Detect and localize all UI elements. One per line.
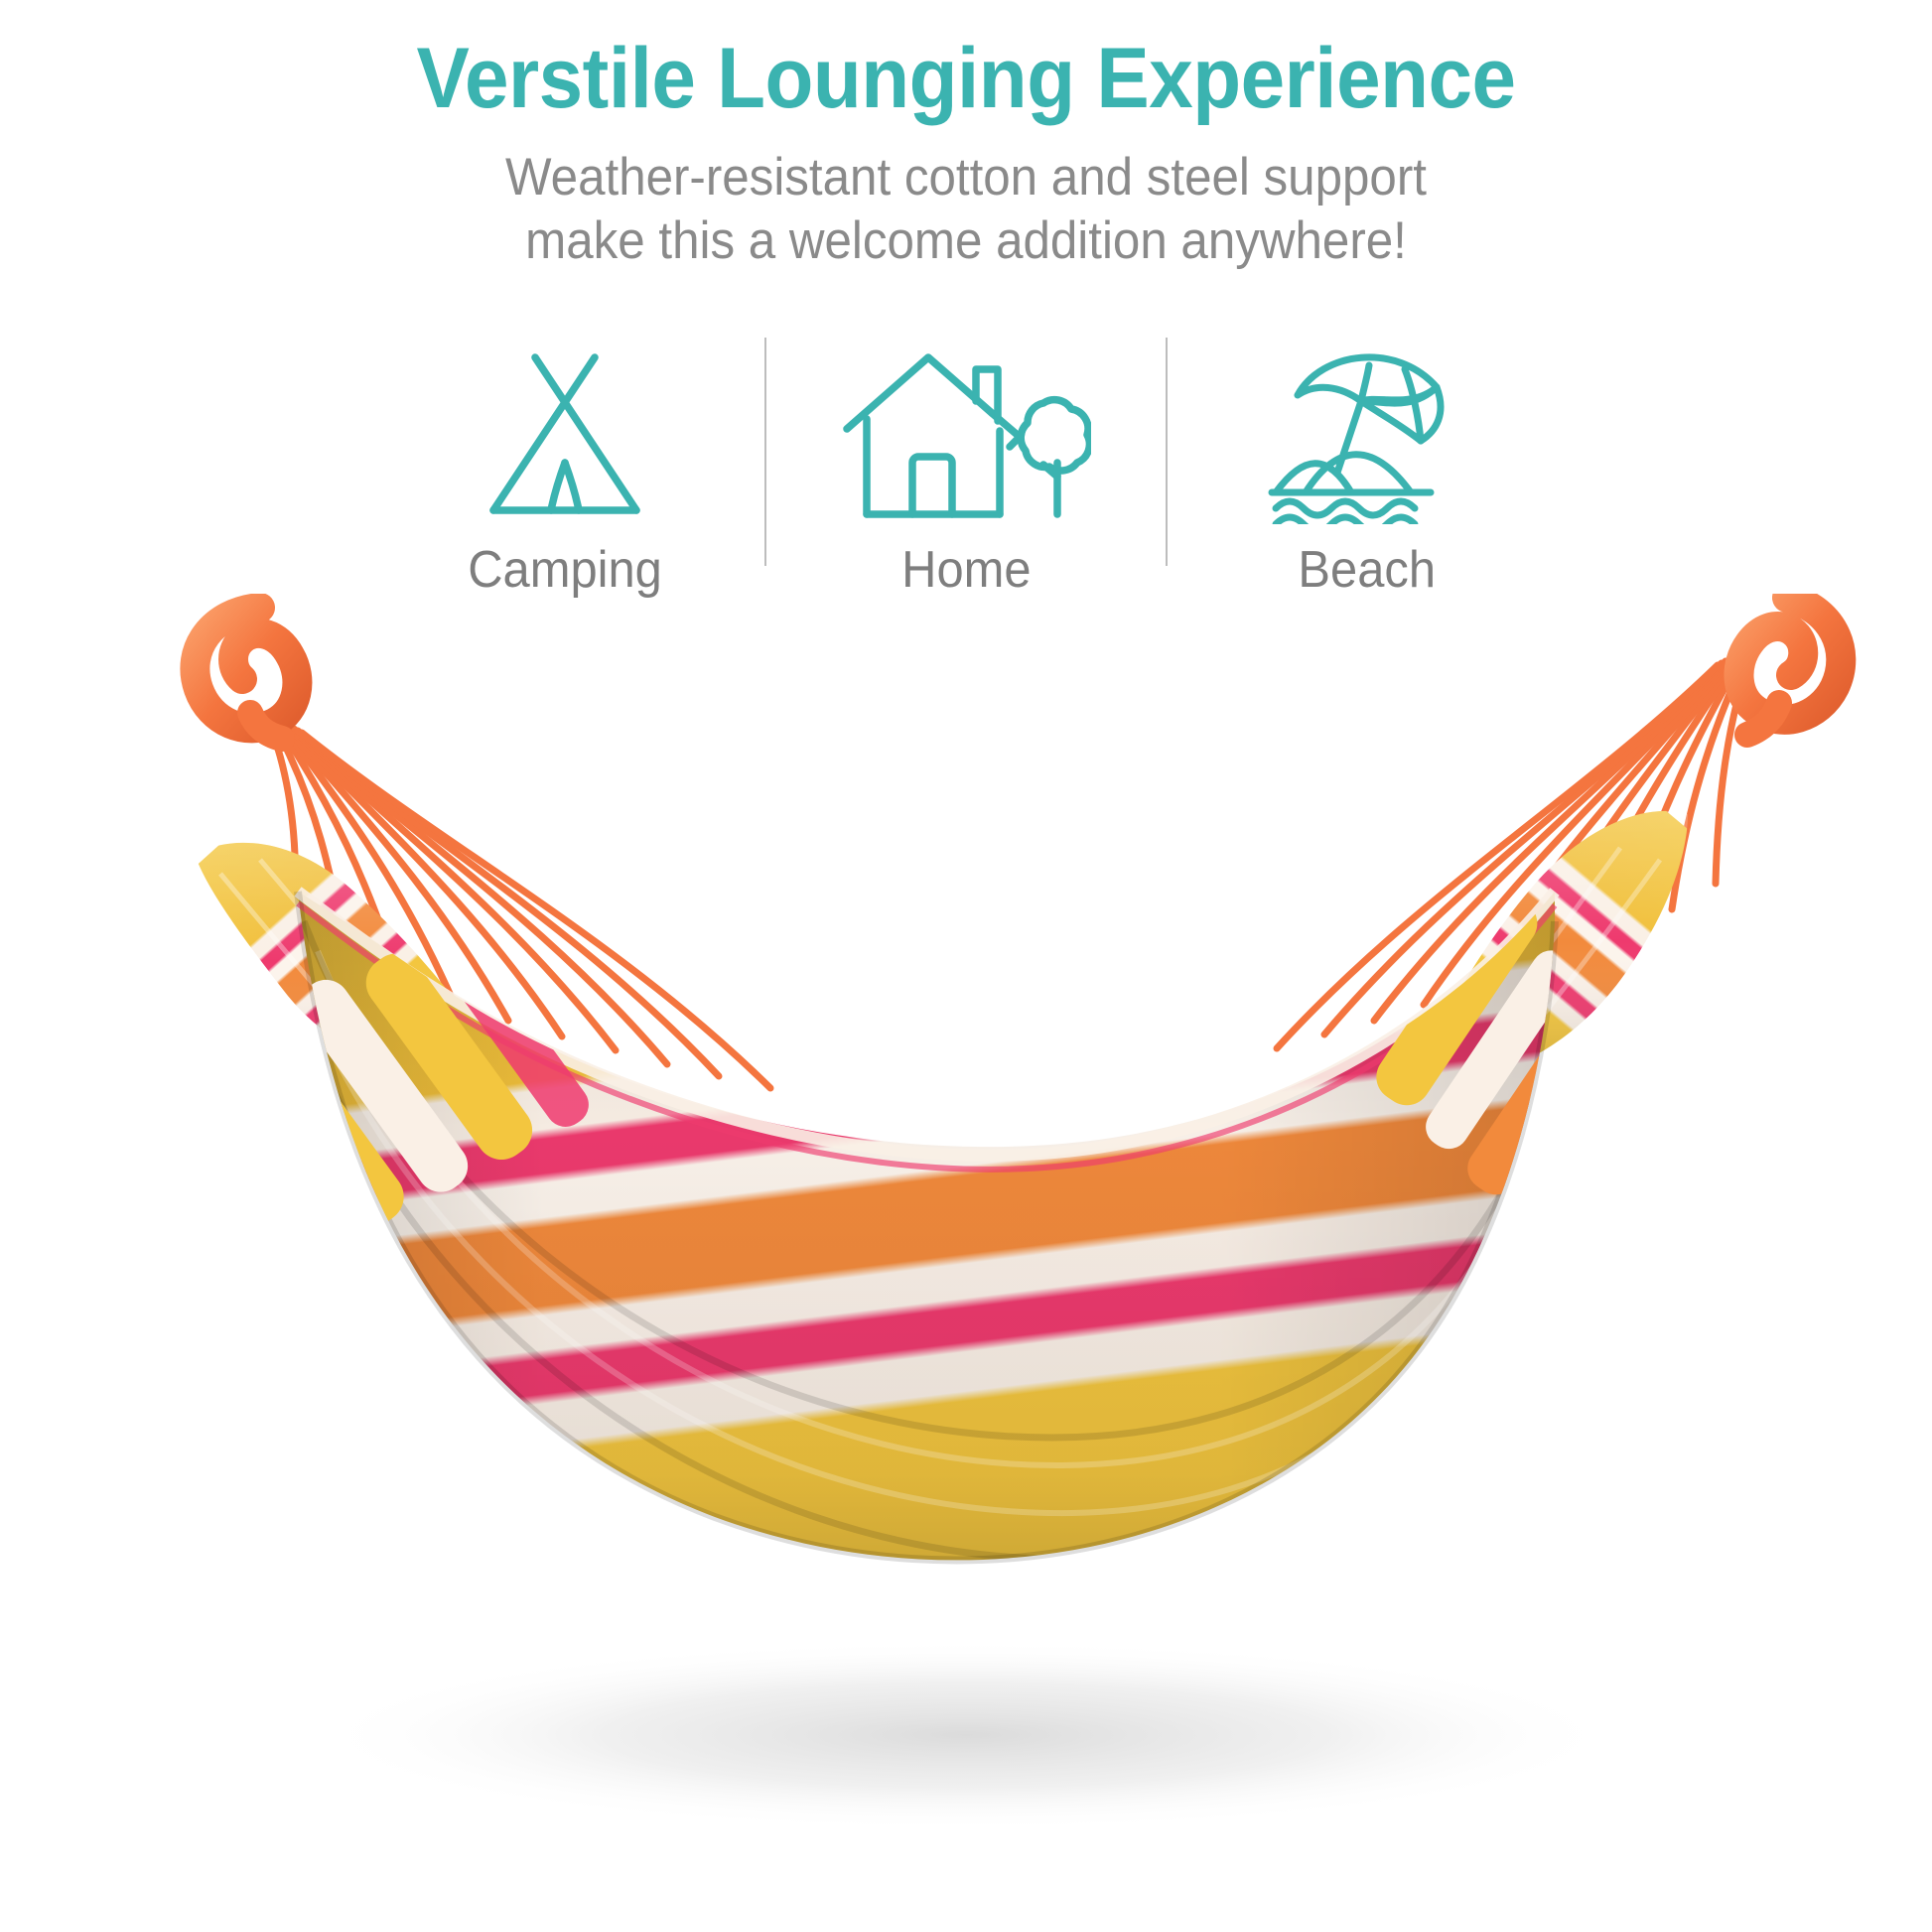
page-title: Verstile Lounging Experience bbox=[68, 0, 1864, 124]
hammock-illustration bbox=[0, 594, 1932, 1932]
tent-icon bbox=[468, 334, 662, 524]
header: Verstile Lounging Experience Weather-res… bbox=[0, 0, 1932, 272]
subtitle-line-1: Weather-resistant cotton and steel suppo… bbox=[68, 146, 1864, 209]
feature-label-home: Home bbox=[901, 544, 1031, 596]
product-image bbox=[0, 594, 1932, 1932]
ground-shadow bbox=[311, 1640, 1621, 1831]
feature-row: Camping Home bbox=[0, 334, 1932, 596]
page-subtitle: Weather-resistant cotton and steel suppo… bbox=[68, 124, 1864, 272]
right-hanging-loop bbox=[1739, 598, 1842, 735]
feature-label-camping: Camping bbox=[468, 544, 662, 596]
feature-beach: Beach bbox=[1207, 334, 1527, 596]
feature-camping: Camping bbox=[405, 334, 725, 596]
house-tree-icon bbox=[841, 334, 1091, 524]
subtitle-line-2: make this a welcome addition anywhere! bbox=[68, 209, 1864, 273]
left-hanging-loop bbox=[195, 608, 297, 739]
feature-divider-2 bbox=[1166, 338, 1168, 566]
feature-label-beach: Beach bbox=[1299, 544, 1437, 596]
beach-umbrella-icon bbox=[1262, 334, 1472, 524]
feature-home: Home bbox=[806, 334, 1126, 596]
feature-divider-1 bbox=[764, 338, 766, 566]
